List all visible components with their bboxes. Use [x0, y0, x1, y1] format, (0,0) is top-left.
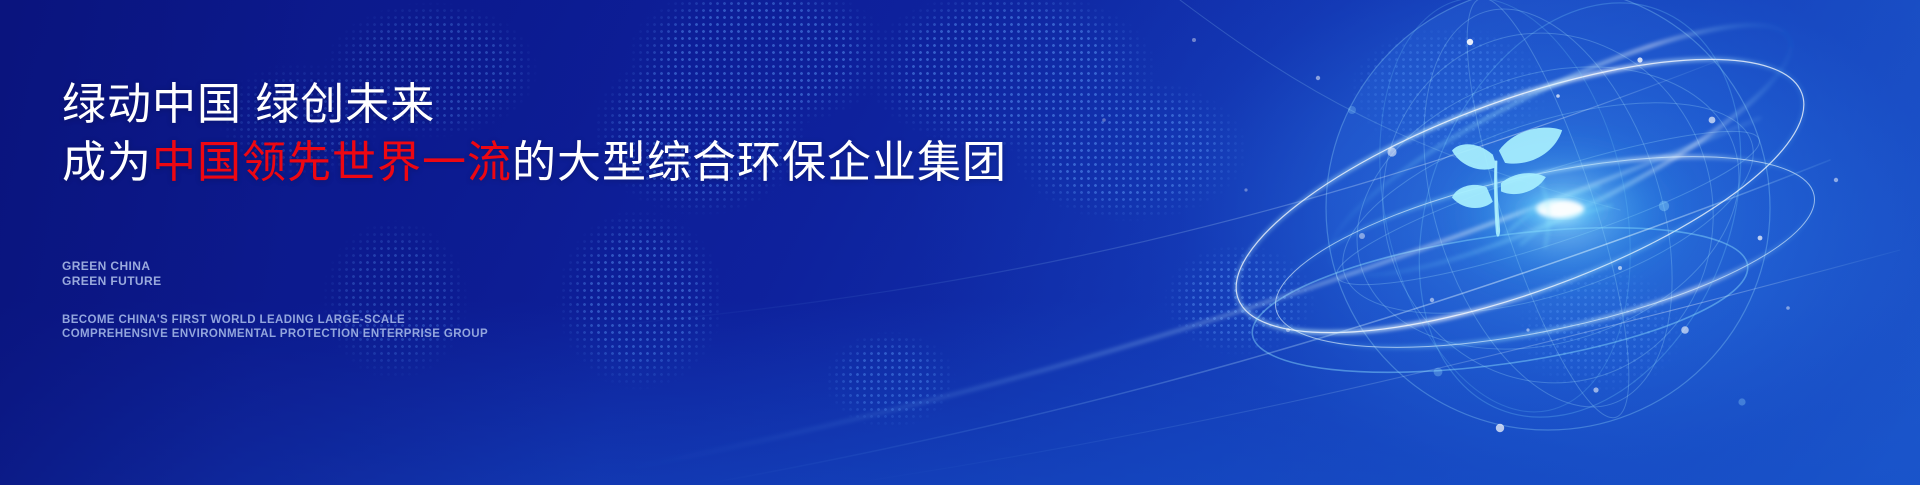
english-description-line-2: COMPREHENSIVE ENVIRONMENTAL PROTECTION E…	[62, 327, 488, 341]
english-slogan: GREEN CHINA GREEN FUTURE	[62, 259, 161, 289]
headline: 绿动中国 绿创未来 成为中国领先世界一流的大型综合环保企业集团	[62, 76, 1007, 192]
headline-line-2-prefix: 成为	[62, 138, 152, 187]
hero-banner: 绿动中国 绿创未来 成为中国领先世界一流的大型综合环保企业集团 GREEN CH…	[0, 0, 1920, 485]
headline-line-2-suffix: 的大型综合环保企业集团	[512, 138, 1007, 187]
headline-line-1: 绿动中国 绿创未来	[62, 80, 435, 129]
english-description-line-1: BECOME CHINA'S FIRST WORLD LEADING LARGE…	[62, 313, 488, 327]
headline-line-2-highlight: 中国领先世界一流	[152, 138, 512, 187]
english-description: BECOME CHINA'S FIRST WORLD LEADING LARGE…	[62, 313, 488, 341]
banner-copy: 绿动中国 绿创未来 成为中国领先世界一流的大型综合环保企业集团 GREEN CH…	[62, 0, 1062, 485]
english-slogan-line-2: GREEN FUTURE	[62, 274, 161, 289]
english-slogan-line-1: GREEN CHINA	[62, 259, 161, 274]
headline-line-2: 成为中国领先世界一流的大型综合环保企业集团	[62, 134, 1007, 192]
